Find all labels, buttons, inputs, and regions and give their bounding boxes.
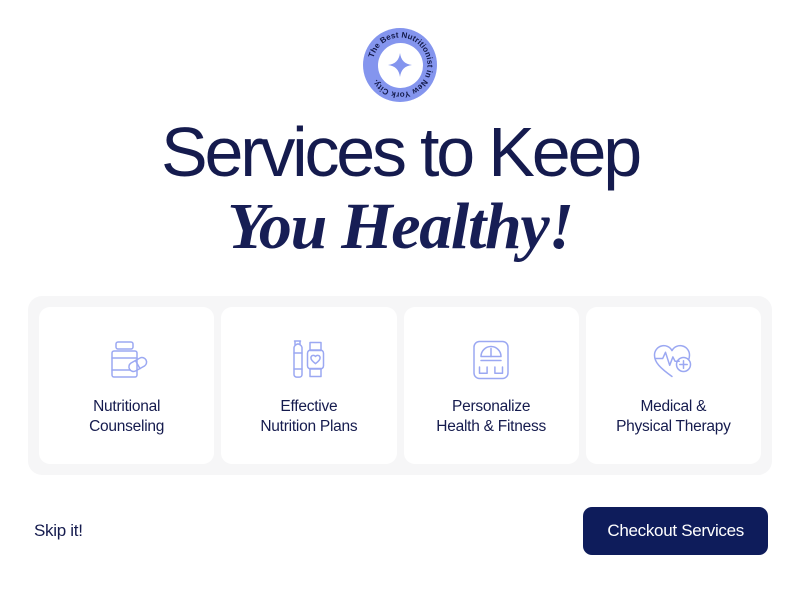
bathroom-scale-icon [470,337,512,383]
checkout-services-button[interactable]: Checkout Services [583,507,768,555]
services-card-list: Nutritional Counseling Effective [28,296,772,475]
water-bottle-smartwatch-icon [288,337,330,383]
onboarding-screen: The Best Nutritionist in New York City. … [0,0,800,599]
service-card-effective-nutrition-plans[interactable]: Effective Nutrition Plans [221,307,396,464]
supplement-bottle-icon [106,337,148,383]
service-card-medical-physical-therapy[interactable]: Medical & Physical Therapy [586,307,761,464]
skip-it-button[interactable]: Skip it! [32,517,85,545]
service-card-label: Personalize Health & Fitness [436,397,546,436]
badge-inner-circle [378,43,423,88]
services-panel: Nutritional Counseling Effective [28,296,772,475]
service-card-label: Medical & Physical Therapy [616,397,731,436]
service-card-personalize-health-fitness[interactable]: Personalize Health & Fitness [404,307,579,464]
four-point-star-icon [387,52,413,78]
best-nutritionist-badge: The Best Nutritionist in New York City. [363,28,437,102]
service-card-nutritional-counseling[interactable]: Nutritional Counseling [39,307,214,464]
service-card-label: Effective Nutrition Plans [260,397,357,436]
headline-line-1: Services to Keep [0,118,800,187]
badge-container: The Best Nutritionist in New York City. [0,0,800,102]
headline-line-2: You Healthy! [0,193,800,260]
heart-pulse-plus-icon [651,337,695,383]
page-title: Services to Keep You Healthy! [0,118,800,261]
footer-actions: Skip it! Checkout Services [0,500,800,562]
service-card-label: Nutritional Counseling [89,397,164,436]
